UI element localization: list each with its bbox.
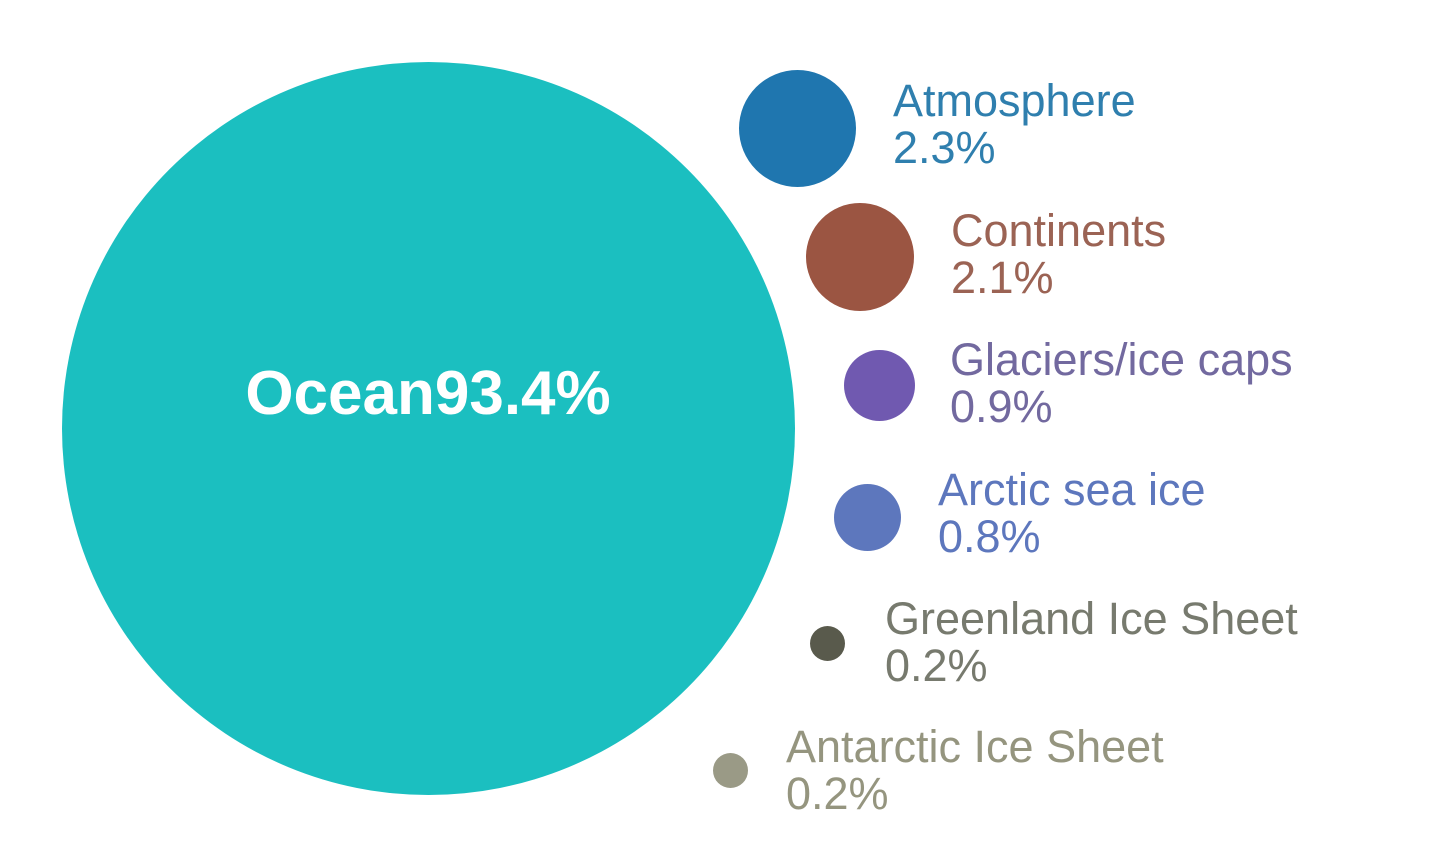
bubble-atmosphere[interactable]: [739, 70, 856, 187]
legend-name-glaciers-ice-caps: Glaciers/ice caps: [950, 337, 1293, 384]
legend-name-antarctic-ice-sheet: Antarctic Ice Sheet: [786, 724, 1164, 771]
bubble-glaciers-ice-caps[interactable]: [844, 350, 915, 421]
bubble-ocean[interactable]: [62, 62, 795, 795]
legend-value-glaciers-ice-caps: 0.9%: [950, 384, 1293, 431]
legend-label-glaciers-ice-caps[interactable]: Glaciers/ice caps0.9%: [950, 337, 1293, 431]
legend-value-atmosphere: 2.3%: [893, 125, 1136, 172]
bubble-arctic-sea-ice[interactable]: [834, 484, 901, 551]
legend-name-greenland-ice-sheet: Greenland Ice Sheet: [885, 596, 1298, 643]
legend-name-continents: Continents: [951, 208, 1166, 255]
legend-value-greenland-ice-sheet: 0.2%: [885, 643, 1298, 690]
bubble-continents[interactable]: [806, 203, 914, 311]
bubble-chart-canvas: Ocean93.4%Atmosphere2.3%Continents2.1%Gl…: [0, 0, 1440, 864]
legend-name-arctic-sea-ice: Arctic sea ice: [938, 467, 1206, 514]
legend-label-atmosphere[interactable]: Atmosphere2.3%: [893, 78, 1136, 172]
bubble-antarctic-ice-sheet[interactable]: [713, 753, 748, 788]
legend-value-antarctic-ice-sheet: 0.2%: [786, 771, 1164, 818]
legend-value-continents: 2.1%: [951, 255, 1166, 302]
legend-label-arctic-sea-ice[interactable]: Arctic sea ice0.8%: [938, 467, 1206, 561]
bubble-greenland-ice-sheet[interactable]: [810, 626, 845, 661]
legend-label-antarctic-ice-sheet[interactable]: Antarctic Ice Sheet0.2%: [786, 724, 1164, 818]
legend-label-greenland-ice-sheet[interactable]: Greenland Ice Sheet0.2%: [885, 596, 1298, 690]
legend-name-atmosphere: Atmosphere: [893, 78, 1136, 125]
legend-label-continents[interactable]: Continents2.1%: [951, 208, 1166, 302]
legend-value-arctic-sea-ice: 0.8%: [938, 514, 1206, 561]
